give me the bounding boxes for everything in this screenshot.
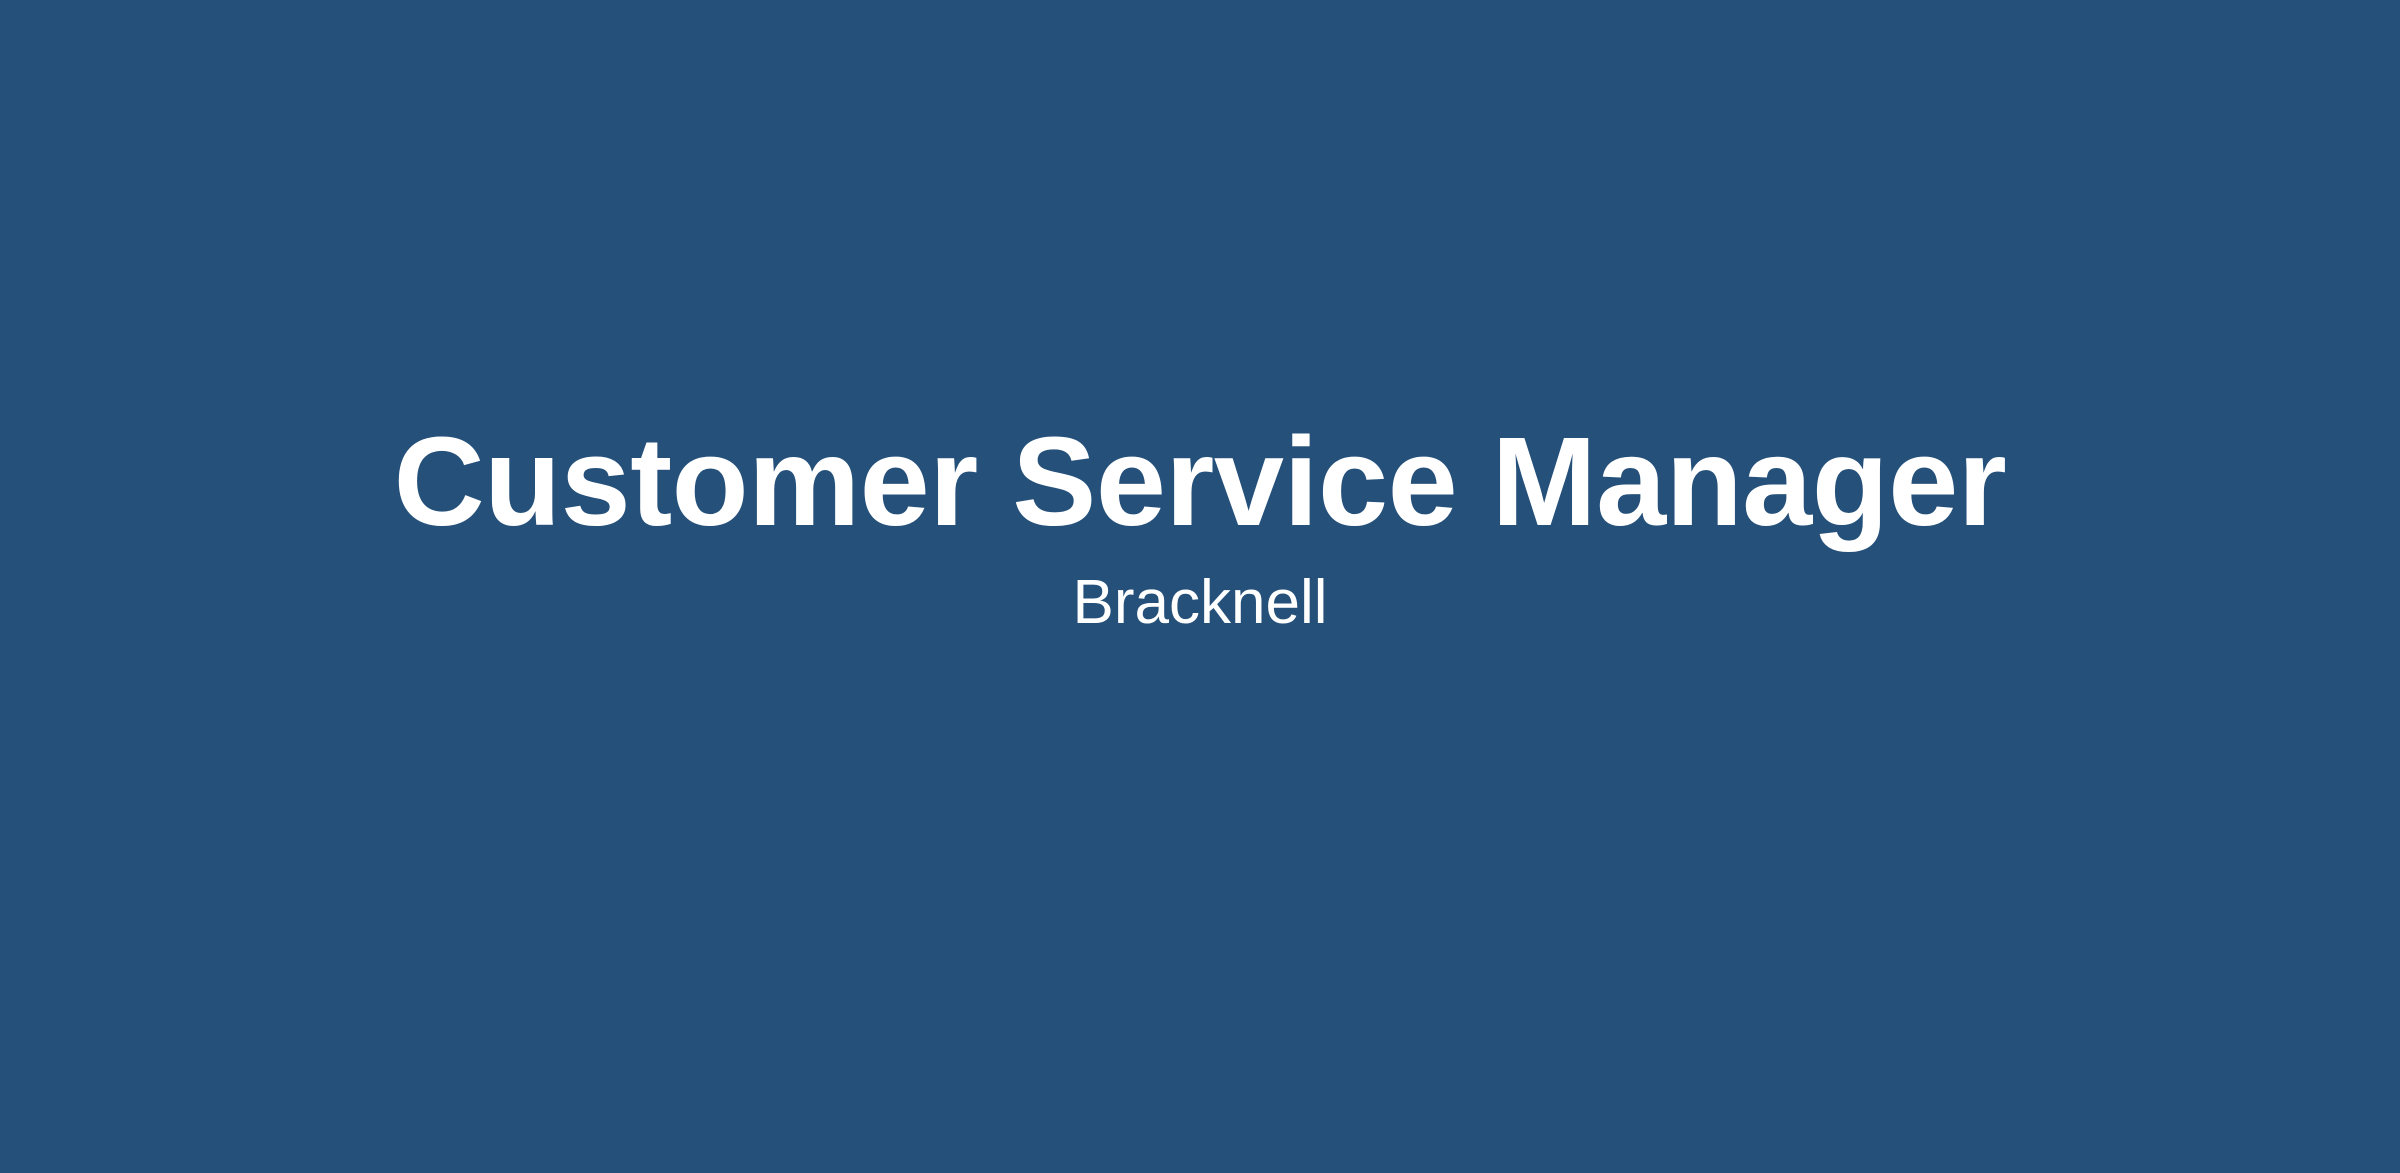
job-location: Bracknell bbox=[1073, 567, 1328, 638]
hero-text-block: Customer Service Manager Bracknell bbox=[394, 415, 2007, 638]
job-title: Customer Service Manager bbox=[394, 415, 2007, 549]
job-posting-hero-banner: Customer Service Manager Bracknell bbox=[0, 0, 2400, 1173]
